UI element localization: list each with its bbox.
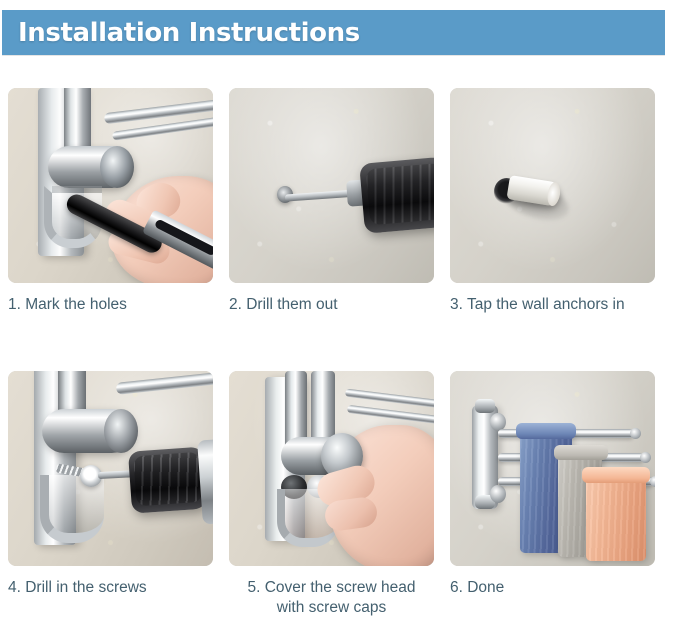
mount-bolt-top-icon: [475, 399, 495, 413]
step-4-photo: [8, 371, 213, 566]
towel-grey-fold-icon: [554, 445, 608, 460]
cylinder-end-icon: [100, 146, 134, 188]
installation-instructions-sheet: Installation Instructions: [0, 0, 679, 592]
step-2-caption: 2. Drill them out: [229, 295, 434, 314]
step-1-caption: 1. Mark the holes: [8, 295, 213, 314]
page-title: Installation Instructions: [18, 18, 360, 48]
step-3-caption: 3. Tap the wall anchors in: [450, 295, 655, 314]
step-6: 6. Done: [450, 371, 655, 617]
step-6-caption: 6. Done: [450, 578, 655, 597]
steps-row-bottom: 4. Drill in the screws: [8, 371, 671, 617]
header-banner: Installation Instructions: [2, 10, 665, 55]
step-3: 3. Tap the wall anchors in: [450, 88, 655, 314]
step-1-photo: [8, 88, 213, 283]
step-2: 2. Drill them out: [229, 88, 434, 314]
steps-row-top: 1. Mark the holes 2. Drill them out: [8, 88, 671, 314]
step-5: 5. Cover the screw head with screw caps: [229, 371, 434, 617]
step-2-photo: [229, 88, 434, 283]
step-6-photo: [450, 371, 655, 566]
bracket-post-secondary-icon: [311, 371, 335, 445]
step-4: 4. Drill in the screws: [8, 371, 213, 617]
step-1: 1. Mark the holes: [8, 88, 213, 314]
step-5-photo: [229, 371, 434, 566]
towel-blue-fold-icon: [516, 423, 576, 439]
step-3-photo: [450, 88, 655, 283]
towel-peach-icon: [586, 469, 646, 561]
steps-grid: 1. Mark the holes 2. Drill them out: [8, 88, 671, 617]
drill-chuck-icon: [359, 156, 434, 234]
step-5-caption: 5. Cover the screw head with screw caps: [229, 578, 434, 617]
step-4-caption: 4. Drill in the screws: [8, 578, 213, 597]
towel-peach-fold-icon: [582, 467, 650, 483]
